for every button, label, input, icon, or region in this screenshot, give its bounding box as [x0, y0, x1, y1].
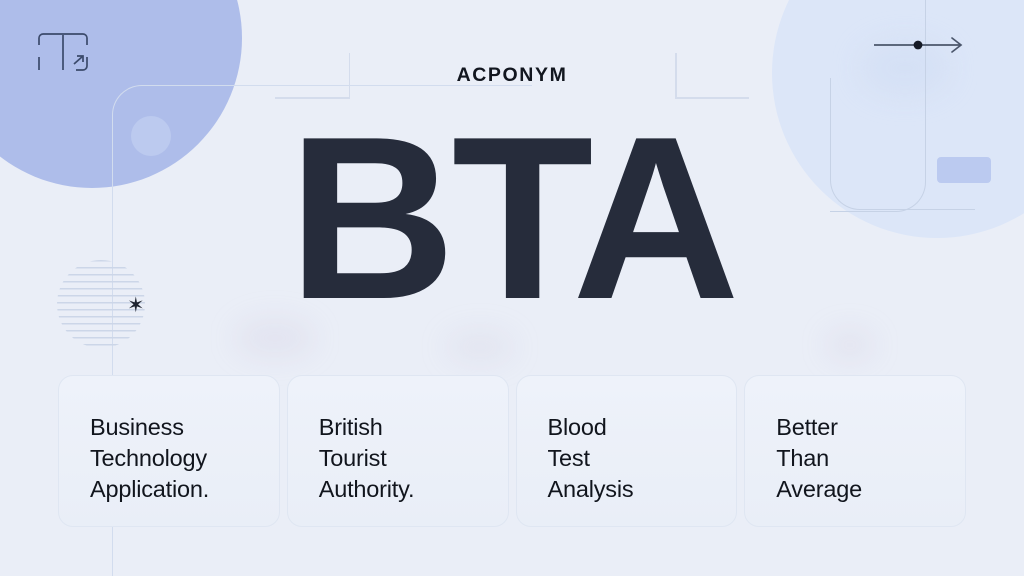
definition-card[interactable]: Blood Test Analysis: [516, 375, 738, 527]
definition-card[interactable]: Better Than Average: [744, 375, 966, 527]
background-haze: [826, 330, 874, 360]
definition-card-list: Business Technology Application. British…: [58, 375, 966, 527]
definition-card-text: British Tourist Authority.: [319, 412, 508, 504]
definition-card-text: Better Than Average: [776, 412, 965, 504]
background-haze: [96, 8, 142, 38]
definition-card-text: Blood Test Analysis: [548, 412, 737, 504]
eyebrow-label: ACPONYM: [457, 64, 568, 87]
hero-acronym: BTA: [0, 108, 1024, 331]
definition-card[interactable]: British Tourist Authority.: [287, 375, 509, 527]
arrow-right-with-dot-icon: [872, 36, 972, 54]
definition-card[interactable]: Business Technology Application.: [58, 375, 280, 527]
definition-card-text: Business Technology Application.: [90, 412, 279, 504]
slide-canvas: ✶ ACPONYM BTA: [0, 0, 1024, 576]
